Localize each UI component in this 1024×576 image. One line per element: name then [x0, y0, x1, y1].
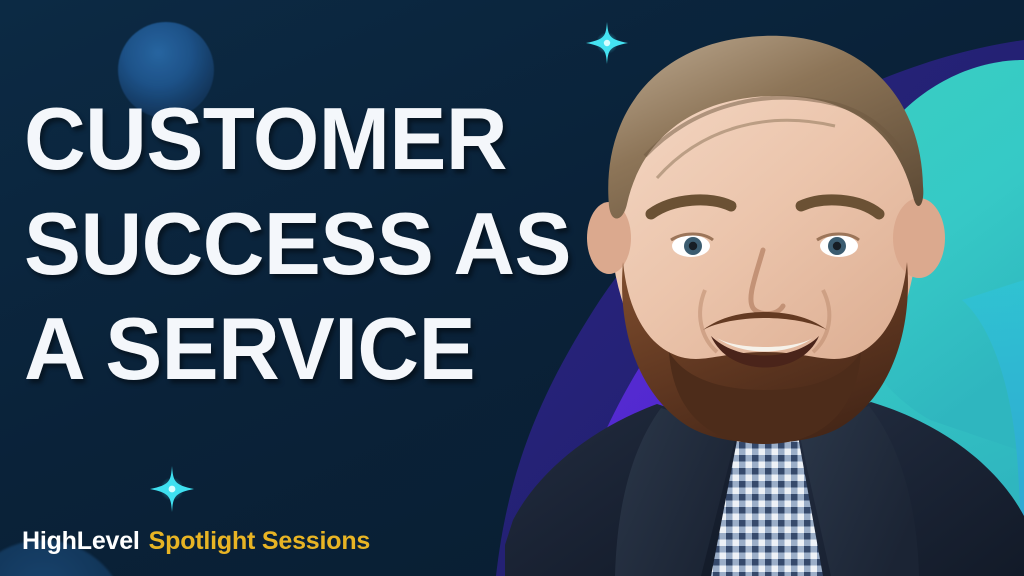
sparkle-star-icon-bottom-left: [150, 466, 194, 512]
headline: CUSTOMER SUCCESS AS A SERVICE: [24, 96, 684, 393]
pupil-left: [689, 242, 697, 250]
sparkle-star-icon-top-right: [586, 22, 628, 64]
pupil-right: [833, 242, 841, 250]
logo-lockup: HighLevel Spotlight Sessions: [22, 527, 370, 556]
video-thumbnail: CUSTOMER SUCCESS AS A SERVICE HighLevel …: [0, 0, 1024, 576]
ear-right: [893, 198, 945, 278]
headline-line-3: A SERVICE: [24, 306, 664, 392]
headline-line-1: CUSTOMER: [24, 96, 664, 182]
series-name: Spotlight Sessions: [149, 527, 370, 556]
headline-line-2: SUCCESS AS: [24, 201, 664, 287]
brand-name: HighLevel: [22, 527, 140, 556]
